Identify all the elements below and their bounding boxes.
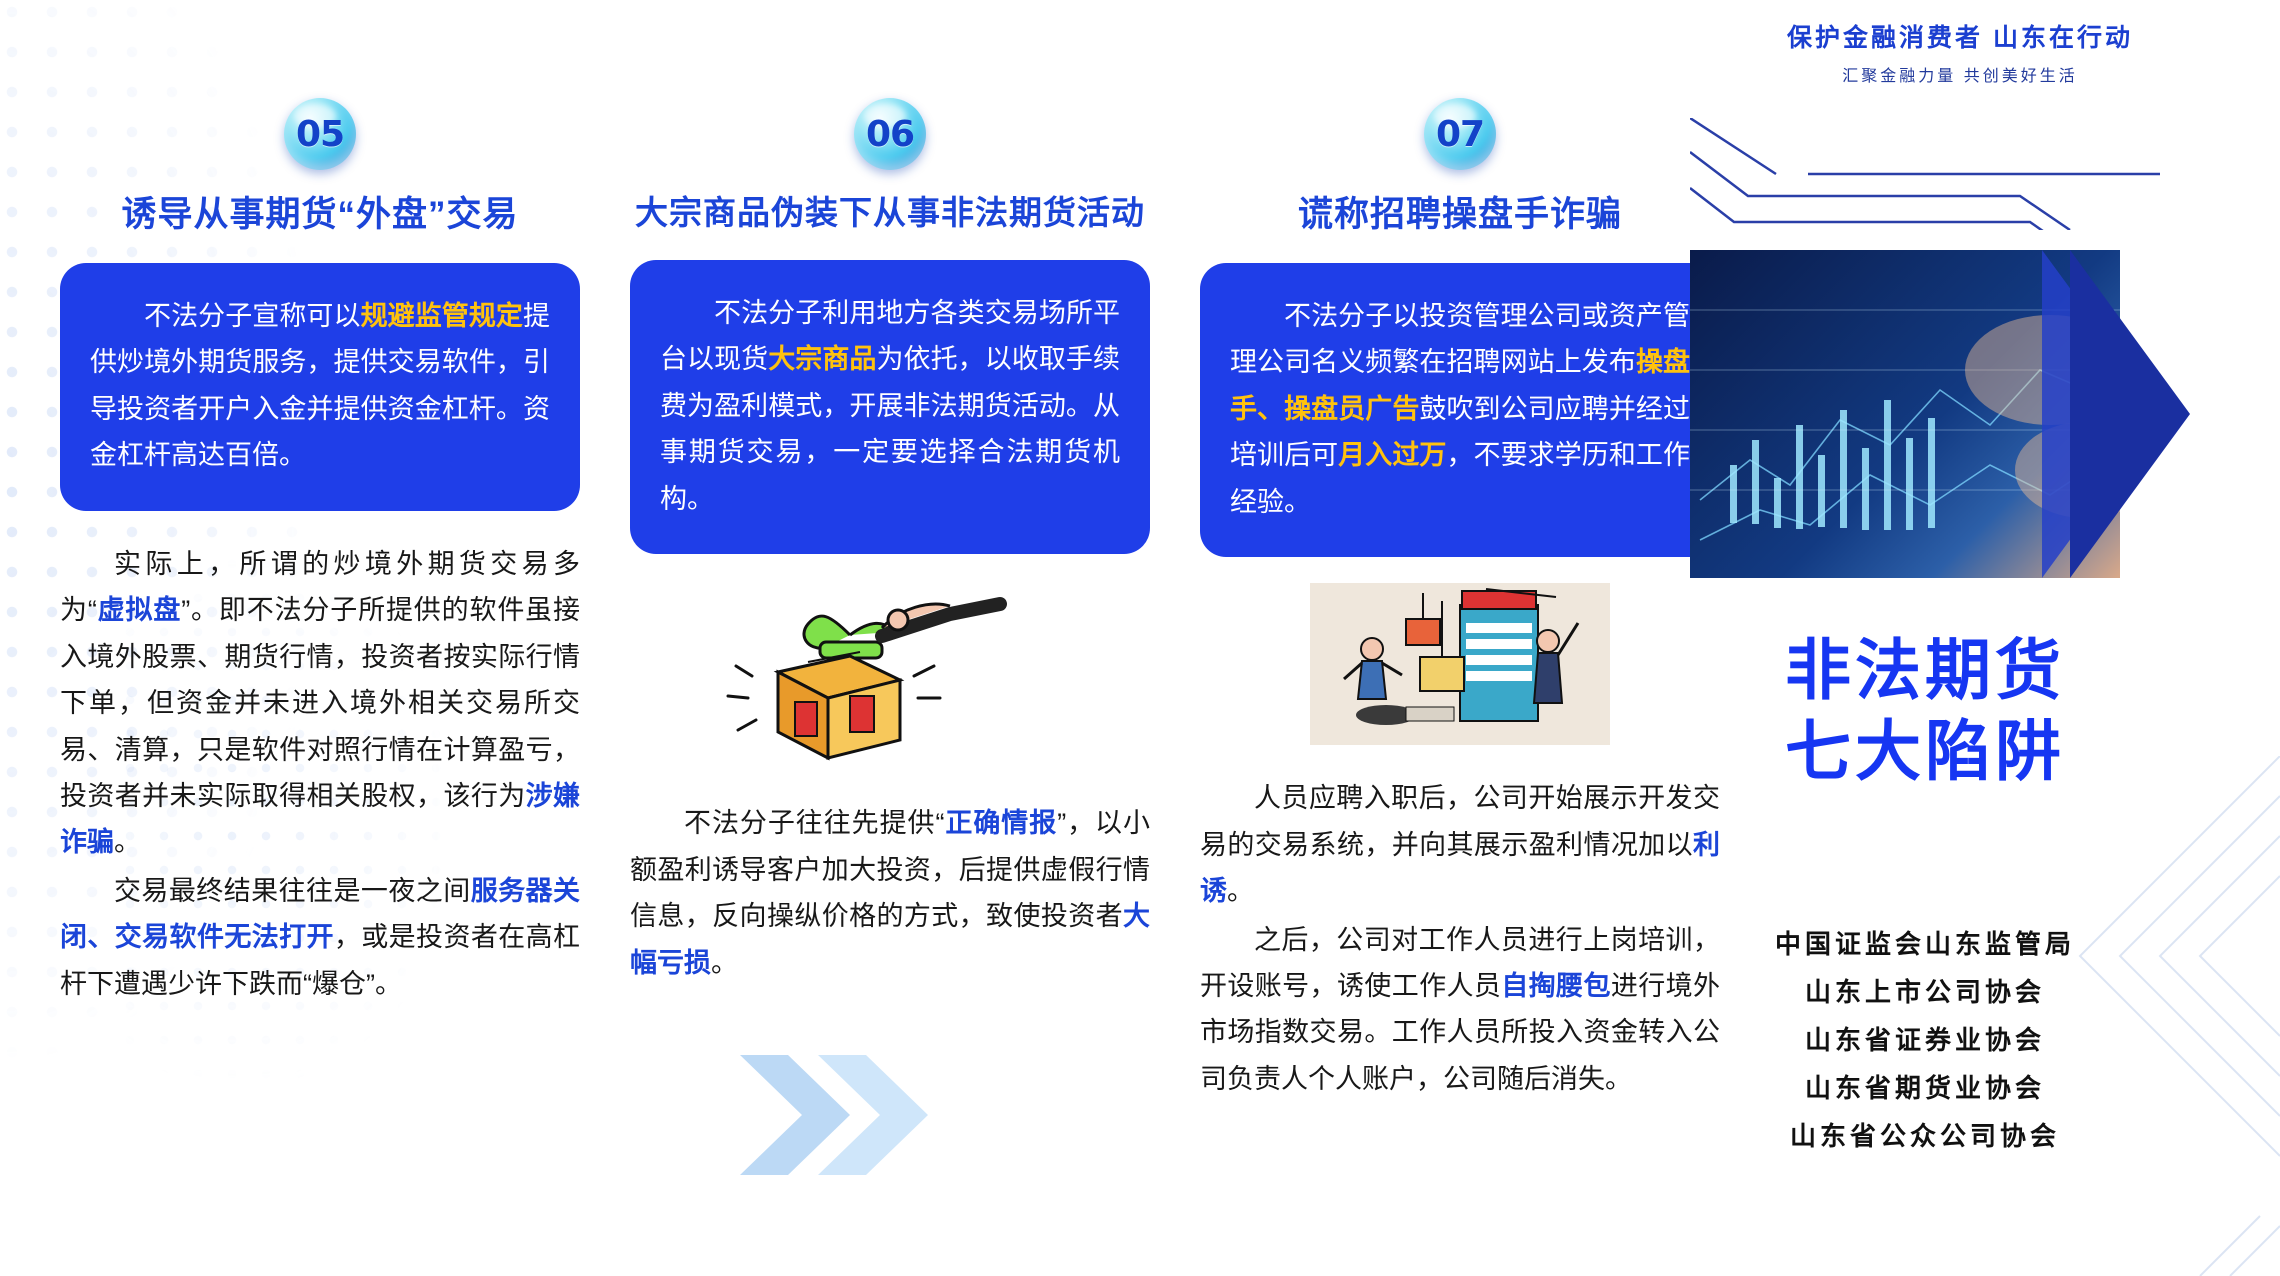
number-badge-05: 05	[284, 98, 356, 170]
campaign-banner-frame-icon	[1690, 118, 2160, 230]
column-title-06: 大宗商品伪装下从事非法期货活动	[630, 186, 1150, 234]
badge-number-label: 06	[866, 114, 914, 155]
info-prefix: 不法分子以投资管理公司或资产管理公司名义频繁在招聘网站上发布	[1230, 301, 1690, 377]
right-panel: 保护金融消费者 山东在行动 汇聚金融力量 共创美好生活	[1690, 0, 2280, 1276]
info-highlight-1: 大宗商品	[768, 344, 876, 374]
text-run: 交易最终结果往往是一夜之间	[114, 876, 471, 906]
number-badge-06: 06	[854, 98, 926, 170]
info-highlight-1: 规避监管规定	[361, 301, 523, 331]
text-run: ”。即不法分子所提供的软件虽接入境外股票、期货行情，投资者按实际行情下单，但资金…	[60, 595, 580, 811]
body-text-05: 实际上，所谓的炒境外期货交易多为“虚拟盘”。即不法分子所提供的软件虽接入境外股票…	[60, 541, 580, 1007]
column-title-07: 谎称招聘操盘手诈骗	[1200, 186, 1720, 237]
text-highlight: 自掏腰包	[1501, 971, 1611, 1001]
body-text-06: 不法分子往往先提供“正确情报”，以小额盈利诱导客户加大投资，后提供虚假行情信息，…	[630, 800, 1150, 986]
info-box-07: 不法分子以投资管理公司或资产管理公司名义频繁在招聘网站上发布操盘手、操盘员广告鼓…	[1200, 263, 1720, 557]
info-box-text-05: 不法分子宣称可以规避监管规定提供炒境外期货服务，提供交易软件，引导投资者开户入金…	[90, 293, 550, 479]
paragraph: 交易最终结果往往是一夜之间服务器关闭、交易软件无法打开，或是投资者在高杠杆下遭遇…	[60, 868, 580, 1007]
info-box-06: 不法分子利用地方各类交易场所平台以现货大宗商品为依托，以收取手续费为盈利模式，开…	[630, 260, 1150, 554]
illustration-money-box-icon	[700, 580, 1080, 770]
banner-subtitle: 汇聚金融力量 共创美好生活	[1760, 62, 2160, 86]
text-highlight: 虚拟盘	[97, 595, 181, 625]
paragraph: 之后，公司对工作人员进行上岗培训，开设账号，诱使工作人员自掏腰包进行境外市场指数…	[1200, 917, 1720, 1103]
text-run: 。	[114, 827, 141, 857]
illustration-fishing-scam-icon	[1310, 583, 1610, 745]
text-run: 。	[1227, 876, 1254, 906]
column-06: 06 大宗商品伪装下从事非法期货活动 不法分子利用地方各类交易场所平台以现货大宗…	[630, 0, 1150, 988]
info-prefix: 不法分子宣称可以	[144, 301, 361, 331]
arrow-chevron-front-icon	[2070, 250, 2190, 578]
corner-line-decoration-icon	[1960, 756, 2280, 1276]
badge-wrap-07: 07	[1200, 98, 1720, 170]
text-highlight: 正确情报	[944, 808, 1057, 838]
column-title-05: 诱导从事期货“外盘”交易	[60, 186, 580, 237]
paragraph: 人员应聘入职后，公司开始展示开发交易的交易系统，并向其展示盈利情况加以利诱。	[1200, 775, 1720, 914]
text-run: 。	[711, 948, 738, 978]
info-box-text-06: 不法分子利用地方各类交易场所平台以现货大宗商品为依托，以收取手续费为盈利模式，开…	[660, 290, 1120, 522]
info-highlight-2: 月入过万	[1338, 440, 1446, 470]
number-badge-07: 07	[1424, 98, 1496, 170]
body-text-07: 人员应聘入职后，公司开始展示开发交易的交易系统，并向其展示盈利情况加以利诱。之后…	[1200, 775, 1720, 1102]
info-box-text-07: 不法分子以投资管理公司或资产管理公司名义频繁在招聘网站上发布操盘手、操盘员广告鼓…	[1230, 293, 1690, 525]
paragraph: 不法分子往往先提供“正确情报”，以小额盈利诱导客户加大投资，后提供虚假行情信息，…	[630, 800, 1150, 986]
badge-number-label: 07	[1436, 114, 1484, 155]
info-box-05: 不法分子宣称可以规避监管规定提供炒境外期货服务，提供交易软件，引导投资者开户入金…	[60, 263, 580, 511]
poster-root: 05 诱导从事期货“外盘”交易 不法分子宣称可以规避监管规定提供炒境外期货服务，…	[0, 0, 2280, 1276]
text-run: 人员应聘入职后，公司开始展示开发交易的交易系统，并向其展示盈利情况加以	[1200, 783, 1720, 859]
main-title-line-1: 非法期货	[1690, 630, 2160, 711]
column-05: 05 诱导从事期货“外盘”交易 不法分子宣称可以规避监管规定提供炒境外期货服务，…	[60, 0, 580, 1009]
badge-wrap-06: 06	[630, 98, 1150, 170]
chevron-decoration-icon	[740, 1045, 980, 1185]
column-07: 07 谎称招聘操盘手诈骗 不法分子以投资管理公司或资产管理公司名义频繁在招聘网站…	[1200, 0, 1720, 1104]
text-run: 不法分子往往先提供“	[684, 808, 944, 838]
badge-wrap-05: 05	[60, 98, 580, 170]
badge-number-label: 05	[296, 114, 344, 155]
banner-title: 保护金融消费者 山东在行动	[1760, 18, 2160, 54]
paragraph: 实际上，所谓的炒境外期货交易多为“虚拟盘”。即不法分子所提供的软件虽接入境外股票…	[60, 541, 580, 866]
